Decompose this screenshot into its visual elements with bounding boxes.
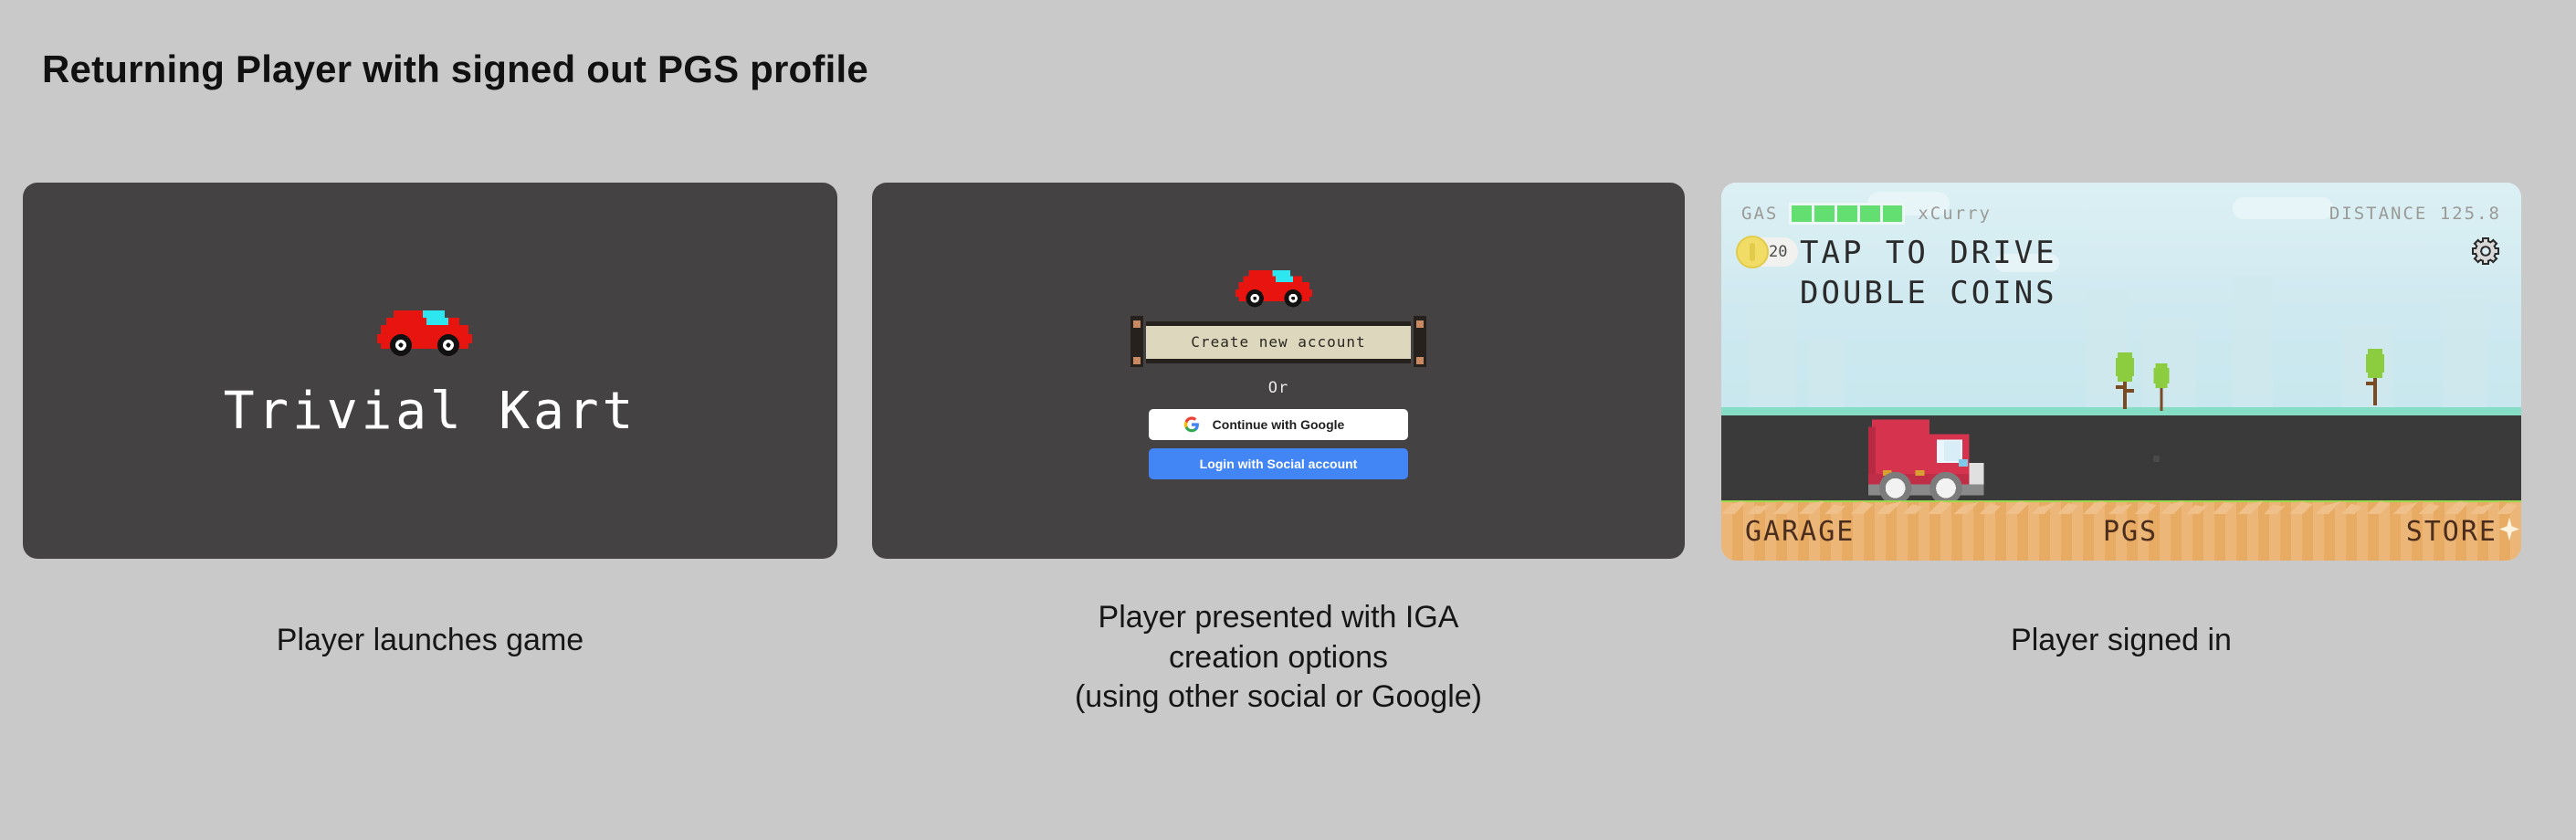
bottom-nav-bar: GARAGE PGS STORE bbox=[1721, 502, 2521, 561]
gas-segment bbox=[1792, 205, 1814, 222]
building-silhouette bbox=[2443, 298, 2487, 413]
promo-line-1: TAP TO DRIVE bbox=[1800, 234, 2057, 274]
continue-with-google-label: Continue with Google bbox=[1213, 417, 1345, 432]
gear-icon[interactable] bbox=[2470, 236, 2501, 267]
gas-segment bbox=[1860, 205, 1883, 222]
player-name: xCurry bbox=[1918, 204, 1992, 224]
pixel-cap-dot bbox=[1133, 357, 1141, 364]
login-with-social-account-button[interactable]: Login with Social account bbox=[1149, 448, 1408, 479]
distance-readout: DISTANCE 125.8 bbox=[2329, 204, 2501, 224]
promo-message: TAP TO DRIVE DOUBLE COINS bbox=[1800, 234, 2057, 313]
hud-top-bar: GAS xCurry DISTANCE 125.8 bbox=[1721, 201, 2521, 226]
promo-line-2: DOUBLE COINS bbox=[1800, 274, 2057, 314]
building-silhouette bbox=[2233, 276, 2273, 413]
nav-garage-button[interactable]: GARAGE bbox=[1745, 516, 1855, 548]
road bbox=[1721, 415, 2521, 505]
google-logo-icon bbox=[1183, 416, 1200, 433]
gas-segment bbox=[1814, 205, 1837, 222]
sparkle-icon bbox=[2499, 518, 2519, 541]
splash-content: Trivial Kart bbox=[23, 183, 837, 559]
red-pixel-car-icon bbox=[1229, 263, 1328, 309]
panel-splash-screen: Trivial Kart bbox=[23, 183, 837, 559]
pixel-cap-dot bbox=[1133, 320, 1141, 328]
page-title: Returning Player with signed out PGS pro… bbox=[42, 47, 868, 91]
panel-iga-options: Create new account Or Continue with Goog… bbox=[872, 183, 1685, 559]
iga-content: Create new account Or Continue with Goog… bbox=[872, 183, 1685, 559]
panel-row: Trivial Kart bbox=[0, 183, 2576, 566]
create-new-account-button[interactable]: Create new account bbox=[1146, 321, 1411, 363]
gas-meter bbox=[1789, 203, 1905, 225]
building-silhouette bbox=[1749, 303, 1796, 413]
nav-store-button[interactable]: STORE bbox=[2406, 516, 2497, 548]
create-new-account-label: Create new account bbox=[1191, 333, 1365, 351]
building-silhouette bbox=[1809, 338, 1844, 413]
caption-panel-3: Player signed in bbox=[1721, 621, 2521, 661]
caption-panel-2: Player presented with IGA creation optio… bbox=[872, 598, 1685, 718]
coin-icon bbox=[1736, 236, 1769, 268]
game-title: Trivial Kart bbox=[224, 382, 637, 441]
pixel-cap-dot bbox=[1416, 357, 1424, 364]
pixel-cap-dot bbox=[1416, 320, 1424, 328]
panel-in-game: GAS xCurry DISTANCE 125.8 20 TAP TO DRIV… bbox=[1721, 183, 2521, 561]
nav-pgs-button[interactable]: PGS bbox=[2103, 516, 2158, 548]
tree-icon bbox=[2149, 363, 2174, 411]
gas-label: GAS bbox=[1741, 204, 1778, 224]
tree-icon bbox=[2360, 349, 2390, 405]
or-divider-label: Or bbox=[1268, 379, 1288, 397]
gas-segment bbox=[1883, 205, 1903, 222]
caption-line: creation options bbox=[872, 638, 1685, 678]
caption-panel-1: Player launches game bbox=[23, 621, 837, 661]
gas-segment bbox=[1837, 205, 1860, 222]
coin-badge: 20 bbox=[1741, 237, 1798, 267]
caption-line: Player presented with IGA bbox=[872, 598, 1685, 638]
red-truck bbox=[1865, 415, 2031, 507]
caption-line: (using other social or Google) bbox=[872, 677, 1685, 718]
login-with-social-account-label: Login with Social account bbox=[1200, 457, 1358, 471]
red-pixel-car-icon bbox=[370, 301, 490, 358]
continue-with-google-button[interactable]: Continue with Google bbox=[1149, 409, 1408, 440]
coin-count: 20 bbox=[1769, 243, 1787, 261]
tree-icon bbox=[2110, 352, 2140, 409]
nav-store-label: STORE bbox=[2406, 516, 2497, 548]
